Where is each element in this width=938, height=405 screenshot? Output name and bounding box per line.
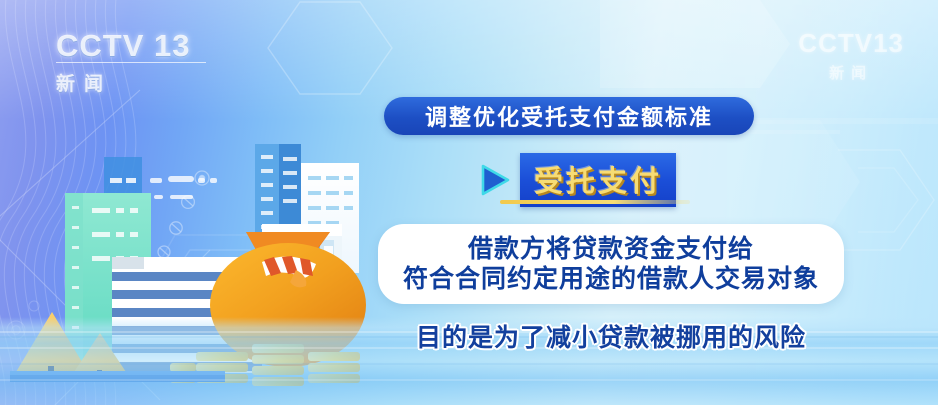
title-banner-text: 调整优化受托支付金额标准: [425, 100, 713, 132]
cctv-watermark: CCTV13 新闻: [798, 28, 904, 83]
cctv-logo-subtitle: 新闻: [56, 69, 206, 96]
keyword-row: 受托支付: [478, 153, 676, 207]
office-tower-blue-back: [104, 157, 142, 193]
cctv-logo: CCTV 13 新闻: [56, 30, 206, 92]
play-triangle-icon: [478, 162, 512, 198]
tagline-text: 目的是为了减小贷款被挪用的风险: [378, 318, 844, 354]
cctv-logo-text: CCTV 13: [56, 30, 206, 61]
keyword-underline: [500, 200, 690, 204]
definition-line-1: 借款方将贷款资金支付给: [468, 235, 754, 263]
keyword-box: 受托支付: [520, 153, 676, 207]
title-banner: 调整优化受托支付金额标准: [384, 97, 754, 135]
keyword-text: 受托支付: [534, 158, 662, 200]
cctv-watermark-subtitle: 新闻: [798, 62, 904, 83]
broadcast-graphic: CCTV 13 新闻 CCTV13 新闻 调整优化受托支付金额标准 受托支付 借…: [0, 0, 938, 405]
definition-line-2: 符合合同约定用途的借款人交易对象: [403, 265, 819, 293]
sky-dashes: [150, 176, 217, 199]
cctv-watermark-text: CCTV13: [798, 28, 904, 59]
definition-card: 借款方将贷款资金支付给 符合合同约定用途的借款人交易对象: [378, 224, 844, 304]
